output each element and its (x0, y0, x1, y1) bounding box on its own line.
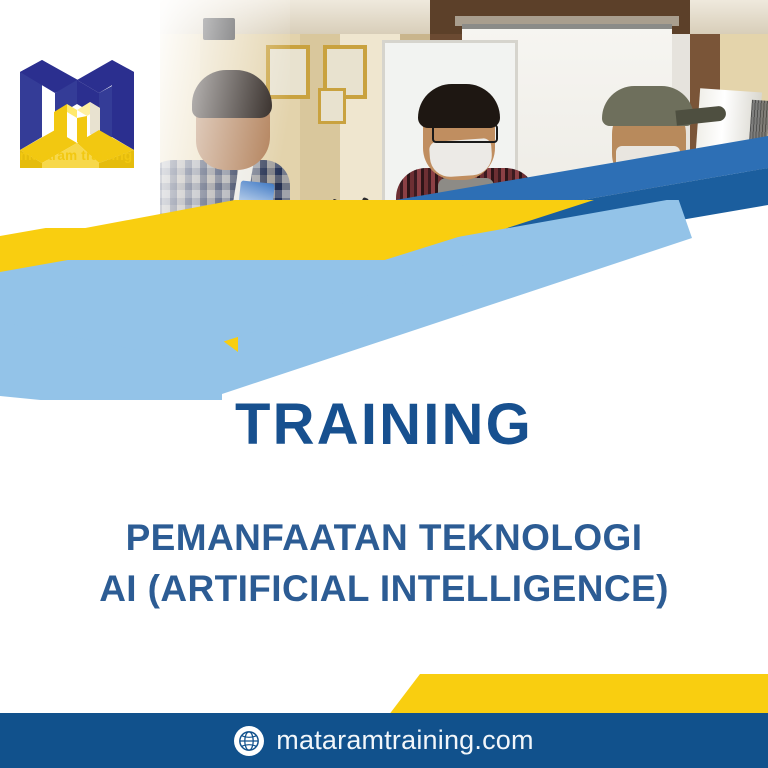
page-title-kicker: TRAINING (0, 396, 768, 454)
page-title: PEMANFAATAN TEKNOLOGI AI (ARTIFICIAL INT… (40, 512, 728, 614)
footer-yellow-accent (0, 660, 768, 720)
logo-wordmark: mataram training (14, 148, 138, 163)
globe-icon (234, 726, 264, 756)
page-title-line-2: AI (ARTIFICIAL INTELLIGENCE) (40, 563, 728, 614)
footer-content: mataramtraining.com (0, 713, 768, 768)
footer-website-url[interactable]: mataramtraining.com (276, 725, 533, 756)
page-title-line-1: PEMANFAATAN TEKNOLOGI (40, 512, 728, 563)
globe-icon-glyph (238, 730, 260, 752)
poster-canvas: mataram training TRAINING PEMANFAATAN TE… (0, 0, 768, 768)
